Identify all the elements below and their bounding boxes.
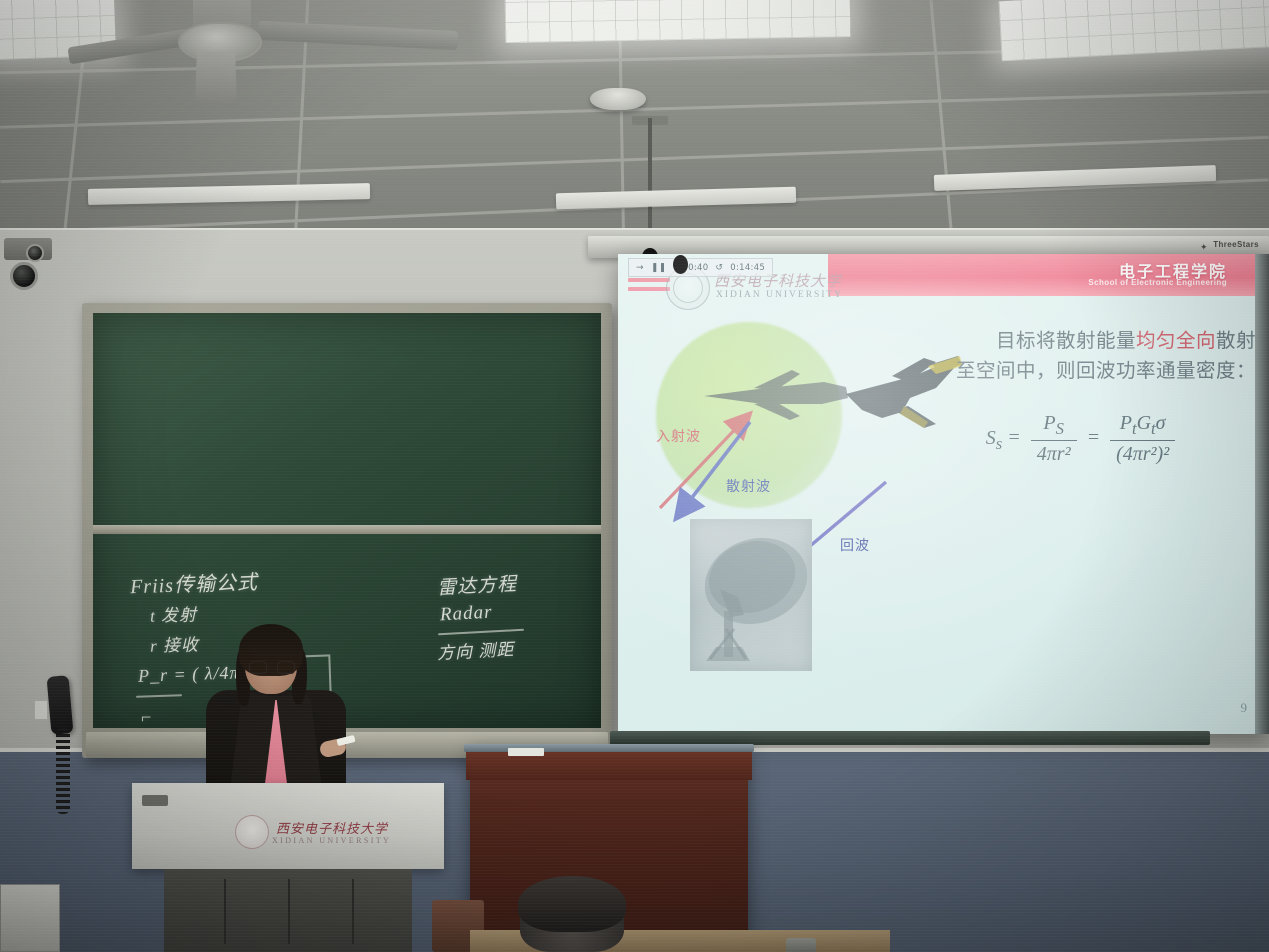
label-echo: 回波 [840,535,870,555]
projection-screen: 电子工程学院 School of Electronic Engineering … [618,254,1269,734]
replay-icon[interactable]: ↺ [715,263,723,273]
chalk-radar-en: Radar [439,602,493,627]
desk-badge-icon [142,795,168,806]
formula-fraction-2: PtGtσ (4πr²)² [1110,412,1175,466]
slide-body-line-2: 至空间中，则回波功率通量密度： [886,356,1256,386]
desk-university-cn: 西安电子科技大学 [276,818,388,837]
screen-brand-label: ThreeStars [1213,240,1259,249]
label-incident-wave: 入射波 [656,426,701,446]
ceiling-light-center [505,0,851,43]
label-scattered-wave: 散射波 [726,476,771,496]
chalk-friis-title: Friis传输公式 [130,566,259,599]
slide-page-number: 9 [1241,700,1248,716]
slide-line1-highlight: 均匀全向 [1136,329,1216,352]
fan-downrod [195,51,237,103]
chalk-transmit: t 发射 [150,600,198,626]
desk-university-en: XIDIAN UNIVERSITY [272,836,391,845]
slide-line1-post: 散射 [1216,329,1256,352]
pointer-dot [673,255,688,274]
lectern-papers [508,748,544,756]
formula-f1-den: 4πr² [1031,441,1077,466]
chalk-bracket-mark: ⌐ [140,707,153,728]
chalk-receive: r 接收 [150,630,200,656]
phone-wall-plate [34,700,48,720]
desk-university-seal-icon [235,815,269,849]
brand-mark-icon: ✦ [1200,242,1207,249]
screen-hanger-rod [648,118,652,246]
slide-header-band: 电子工程学院 School of Electronic Engineering [828,254,1255,296]
classroom-photo-scene: Friis传输公式 t 发射 r 接收 P_r = ( λ/4πr )² P_t… [0,0,1269,952]
pause-icon[interactable]: ❚❚ [651,263,667,273]
side-cabinet [0,884,60,952]
slide-body-line-1: 目标将散射能量均匀全向散射 [886,326,1256,356]
slide-line1-pre: 目标将散射能量 [996,329,1136,352]
formula-lhs: Ss [986,427,1002,449]
parabolic-radar-dish-photo [690,519,812,671]
chalk-direction-range: 方向 测距 [436,635,514,664]
slide-formula: Ss = PS 4πr² = PtGtσ (4πr²)² [918,412,1248,466]
screen-right-shadow [1255,254,1269,734]
slide-body-text: 目标将散射能量均匀全向散射 至空间中，则回波功率通量密度： [886,326,1256,386]
smoke-detector [590,88,646,110]
slide-accent-bars [628,278,670,296]
formula-eq2: = [1087,427,1101,449]
phone-cord [56,728,70,814]
formula-f1-num: PS [1031,412,1077,441]
formula-f2-num: PtGtσ [1110,412,1175,441]
formula-eq1: = [1007,427,1021,449]
student-hair [518,876,626,932]
glasses-icon [249,661,295,675]
remaining-time: 0:14:45 [730,263,765,273]
forward-icon[interactable]: → [636,263,644,273]
desk-cabinet [164,869,412,952]
blackboard: Friis传输公式 t 发射 r 接收 P_r = ( λ/4πr )² P_t… [82,303,612,758]
chalk-radar-equation-cn: 雷达方程 [436,569,517,600]
slide-university-en: XIDIAN UNIVERSITY [716,290,843,300]
cup [786,938,816,952]
formula-f2-den: (4πr²)² [1110,441,1175,466]
blackboard-divider [93,525,601,534]
wall-speaker-icon [10,262,38,290]
formula-fraction-1: PS 4πr² [1031,412,1077,466]
slide-school-name-en: School of Electronic Engineering [1088,278,1227,287]
playback-control-overlay[interactable]: → ❚❚ 0:00:40 ↺ 0:14:45 [628,258,773,277]
screen-bottom-weight-bar [610,731,1210,745]
wall-camera-icon [26,244,44,262]
